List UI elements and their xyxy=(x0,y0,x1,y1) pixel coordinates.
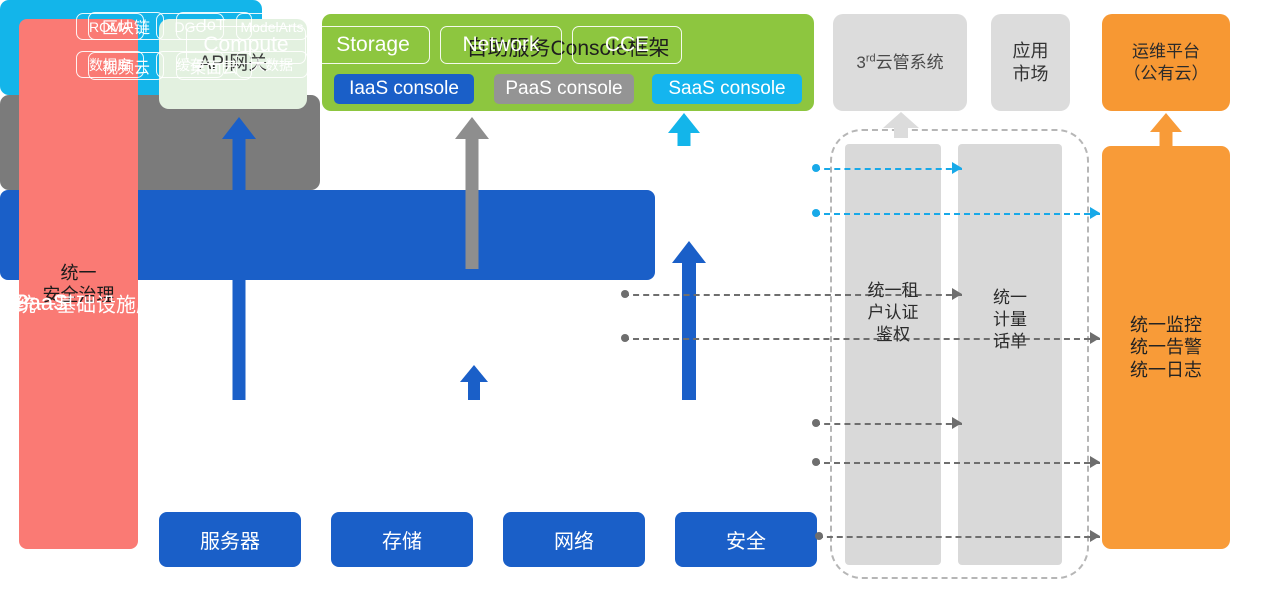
connector-dot-saas-1 xyxy=(812,164,820,172)
connector-arrowhead-saas-2 xyxy=(1090,207,1100,219)
third-party-cloud-label: 3rd云管系统 xyxy=(856,52,943,73)
connector-dot-infra-2 xyxy=(812,458,820,466)
connector-arrowhead-infra-1 xyxy=(952,417,962,429)
arrow-infra-to-saas xyxy=(672,241,706,400)
saas-console-badge[interactable]: SaaS console xyxy=(652,74,802,104)
connector-dot-paas-1 xyxy=(621,290,629,298)
connector-infra-to-ops xyxy=(814,462,1100,464)
arrow-infra-to-api-gateway xyxy=(222,117,256,400)
connector-dot-hardware xyxy=(815,532,823,540)
infra-chip-network[interactable]: Network xyxy=(440,26,562,64)
unified-monitoring-panel[interactable]: 统一监控 统一告警 统一日志 xyxy=(1102,146,1230,549)
connector-arrowhead-hardware xyxy=(1090,530,1100,542)
hardware-box-storage[interactable]: 存储 xyxy=(331,512,473,567)
unified-security-governance-panel[interactable]: 统一 安全治理 xyxy=(19,19,138,549)
unified-infrastructure-label: 统一基础设施服务 xyxy=(16,288,176,317)
application-market-label: 应用 市场 xyxy=(1013,40,1049,85)
hardware-box-server[interactable]: 服务器 xyxy=(159,512,301,567)
connector-hardware-to-ops xyxy=(817,536,1100,538)
arrow-infra-to-paas xyxy=(460,365,488,400)
paas-console-badge[interactable]: PaaS console xyxy=(494,74,634,104)
unified-tenant-auth-column[interactable] xyxy=(845,144,941,565)
arrow-to-ops-platform xyxy=(1150,113,1182,146)
connector-saas-to-auth xyxy=(814,168,962,170)
iaas-console-badge[interactable]: IaaS console xyxy=(334,74,474,104)
connector-arrowhead-saas-1 xyxy=(952,162,962,174)
arrow-to-third-party-cloud xyxy=(883,112,919,138)
arrow-saas-to-console xyxy=(668,113,700,146)
hardware-box-network[interactable]: 网络 xyxy=(503,512,645,567)
connector-arrowhead-infra-2 xyxy=(1090,456,1100,468)
connector-dot-paas-2 xyxy=(621,334,629,342)
unified-metering-label: 统一 计量 话单 xyxy=(958,287,1062,353)
unified-metering-column[interactable] xyxy=(958,144,1062,565)
infra-chip-cce[interactable]: CCE xyxy=(572,26,682,64)
ops-platform-label: 运维平台 （公有云） xyxy=(1124,41,1209,84)
connector-arrowhead-paas-2 xyxy=(1090,332,1100,344)
architecture-diagram: 统一 安全治理 API网关 自助服务Console框架 IaaS console… xyxy=(0,0,1265,605)
unified-monitoring-label: 统一监控 统一告警 统一日志 xyxy=(1130,314,1202,382)
ops-platform-public-cloud-box[interactable]: 运维平台 （公有云） xyxy=(1102,14,1230,111)
connector-dot-saas-2 xyxy=(812,209,820,217)
unified-tenant-auth-label: 统一租 户认证 鉴权 xyxy=(845,280,941,346)
third-party-cloud-management-box[interactable]: 3rd云管系统 xyxy=(833,14,967,111)
paas-chip-roma[interactable]: ROMA xyxy=(76,13,144,40)
paas-chip-database[interactable]: 数据库 xyxy=(76,51,144,78)
infra-chip-storage[interactable]: Storage xyxy=(316,26,430,64)
connector-saas-to-ops xyxy=(814,213,1100,215)
hardware-box-security[interactable]: 安全 xyxy=(675,512,817,567)
infra-chip-compute[interactable]: Compute xyxy=(186,26,306,64)
connector-dot-infra-1 xyxy=(812,419,820,427)
arrow-paas-to-console xyxy=(455,117,489,269)
application-market-box[interactable]: 应用 市场 xyxy=(991,14,1070,111)
connector-infra-to-auth xyxy=(814,423,962,425)
